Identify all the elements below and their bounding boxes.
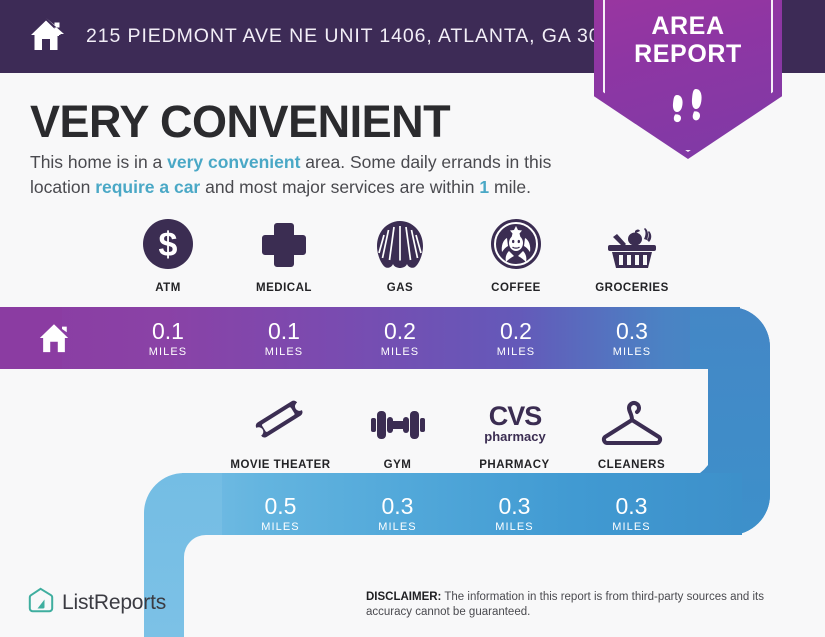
distance-value: 0.2 bbox=[500, 320, 532, 343]
distance-cell-medical: 0.1 MILES bbox=[226, 313, 342, 365]
amenity-gym: GYM bbox=[339, 395, 456, 471]
area-report-badge: AREA REPORT bbox=[594, 0, 782, 159]
amenity-coffee: COFFEE bbox=[458, 218, 574, 294]
distance-unit: MILES bbox=[265, 346, 304, 358]
distance-value: 0.1 bbox=[152, 320, 184, 343]
distance-cell-groceries: 0.3 MILES bbox=[574, 313, 690, 365]
dumbbell-icon bbox=[370, 395, 426, 447]
property-address: 215 PIEDMONT AVE NE UNIT 1406, ATLANTA, … bbox=[86, 25, 636, 48]
hanger-icon bbox=[599, 395, 665, 447]
starbucks-icon bbox=[490, 218, 542, 270]
grocery-basket-icon bbox=[604, 218, 660, 270]
ribbon-home-icon bbox=[35, 320, 73, 359]
blurb-part-4: mile. bbox=[489, 177, 531, 197]
shell-gas-icon bbox=[374, 218, 426, 270]
distance-cell-gas: 0.2 MILES bbox=[342, 313, 458, 365]
svg-text:$: $ bbox=[159, 226, 178, 264]
brand-logo: ListReports bbox=[28, 587, 166, 618]
amenity-gas: GAS bbox=[342, 218, 458, 294]
medical-cross-icon bbox=[259, 218, 309, 270]
cvs-pharmacy-icon: CVS pharmacy bbox=[478, 395, 552, 447]
amenity-icons-row-1: $ ATM MEDICAL bbox=[110, 218, 690, 294]
distance-unit: MILES bbox=[261, 521, 300, 533]
amenity-groceries: GROCERIES bbox=[574, 218, 690, 294]
distance-cell-movie-theater: 0.5 MILES bbox=[222, 488, 339, 540]
amenity-pharmacy: CVS pharmacy PHARMACY bbox=[456, 395, 573, 471]
amenity-label: COFFEE bbox=[491, 282, 541, 294]
distance-value: 0.3 bbox=[616, 495, 648, 518]
distance-cell-atm: 0.1 MILES bbox=[110, 313, 226, 365]
amenity-label: GYM bbox=[384, 459, 412, 471]
distance-cell-pharmacy: 0.3 MILES bbox=[456, 488, 573, 540]
page-title: VERY CONVENIENT bbox=[30, 96, 450, 148]
distance-value: 0.2 bbox=[384, 320, 416, 343]
distance-unit: MILES bbox=[495, 521, 534, 533]
distance-unit: MILES bbox=[613, 346, 652, 358]
amenity-label: GROCERIES bbox=[595, 282, 669, 294]
dollar-circle-icon: $ bbox=[142, 218, 194, 270]
distance-unit: MILES bbox=[378, 521, 417, 533]
area-report-page: 215 PIEDMONT AVE NE UNIT 1406, ATLANTA, … bbox=[0, 0, 825, 637]
amenity-icons-row-2: MOVIE THEATER GYM bbox=[222, 395, 690, 471]
summary-text: This home is in a very convenient area. … bbox=[30, 150, 595, 200]
amenity-label: ATM bbox=[155, 282, 181, 294]
amenity-label: MEDICAL bbox=[256, 282, 312, 294]
amenity-label: MOVIE THEATER bbox=[230, 459, 330, 471]
blurb-part-1: This home is in a bbox=[30, 152, 167, 172]
amenity-label: PHARMACY bbox=[479, 459, 549, 471]
amenity-cleaners: CLEANERS bbox=[573, 395, 690, 471]
distance-value: 0.3 bbox=[616, 320, 648, 343]
distance-cell-coffee: 0.2 MILES bbox=[458, 313, 574, 365]
movie-ticket-icon bbox=[255, 395, 307, 447]
amenity-movie-theater: MOVIE THEATER bbox=[222, 395, 339, 471]
distance-unit: MILES bbox=[149, 346, 188, 358]
svg-text:CVS: CVS bbox=[488, 401, 541, 431]
home-icon bbox=[26, 16, 66, 57]
distance-unit: MILES bbox=[497, 346, 536, 358]
brand-name: ListReports bbox=[62, 591, 166, 615]
badge-line-1: AREA bbox=[594, 12, 782, 40]
listreports-house-icon bbox=[28, 587, 54, 618]
badge-line-2: REPORT bbox=[594, 40, 782, 68]
blurb-highlight-car: require a car bbox=[95, 177, 200, 197]
distance-row-1: 0.1 MILES 0.1 MILES 0.2 MILES 0.2 MILES … bbox=[110, 313, 690, 365]
blurb-part-3: and most major services are within bbox=[200, 177, 479, 197]
distance-value: 0.3 bbox=[382, 495, 414, 518]
distance-value: 0.5 bbox=[265, 495, 297, 518]
distance-cell-gym: 0.3 MILES bbox=[339, 488, 456, 540]
distance-unit: MILES bbox=[612, 521, 651, 533]
distance-value: 0.1 bbox=[268, 320, 300, 343]
distance-value: 0.3 bbox=[499, 495, 531, 518]
amenity-medical: MEDICAL bbox=[226, 218, 342, 294]
amenity-atm: $ ATM bbox=[110, 218, 226, 294]
distance-cell-cleaners: 0.3 MILES bbox=[573, 488, 690, 540]
badge-title: AREA REPORT bbox=[594, 12, 782, 68]
distance-row-2: 0.5 MILES 0.3 MILES 0.3 MILES 0.3 MILES bbox=[222, 488, 690, 540]
svg-text:pharmacy: pharmacy bbox=[484, 429, 546, 444]
amenity-label: GAS bbox=[387, 282, 413, 294]
footprints-icon bbox=[665, 86, 711, 131]
blurb-highlight-convenience: very convenient bbox=[167, 152, 300, 172]
blurb-highlight-distance: 1 bbox=[479, 177, 489, 197]
amenity-label: CLEANERS bbox=[598, 459, 665, 471]
disclaimer-label: DISCLAIMER: bbox=[366, 591, 441, 603]
disclaimer: DISCLAIMER: The information in this repo… bbox=[366, 590, 791, 619]
distance-unit: MILES bbox=[381, 346, 420, 358]
